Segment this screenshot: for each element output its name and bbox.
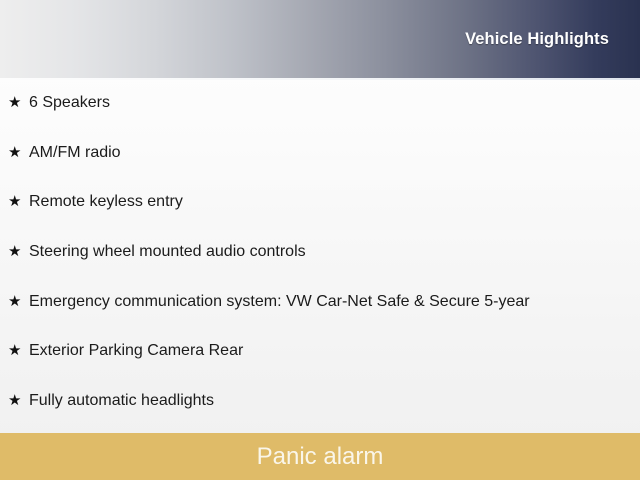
list-item: ★ AM/FM radio bbox=[0, 128, 640, 178]
vehicle-highlights-panel: Vehicle Highlights ★ 6 Speakers ★ AM/FM … bbox=[0, 0, 640, 480]
footer-banner: Panic alarm bbox=[0, 433, 640, 480]
star-icon: ★ bbox=[8, 294, 29, 309]
list-item: ★ Fully automatic headlights bbox=[0, 376, 640, 426]
list-item: ★ Steering wheel mounted audio controls bbox=[0, 227, 640, 277]
list-item-label: Remote keyless entry bbox=[29, 192, 183, 211]
star-icon: ★ bbox=[8, 145, 29, 160]
star-icon: ★ bbox=[8, 194, 29, 209]
list-item-label: Emergency communication system: VW Car-N… bbox=[29, 292, 530, 311]
list-item-label: Steering wheel mounted audio controls bbox=[29, 242, 306, 261]
list-item-label: Exterior Parking Camera Rear bbox=[29, 341, 243, 360]
list-item: ★ Exterior Parking Camera Rear bbox=[0, 326, 640, 376]
star-icon: ★ bbox=[8, 95, 29, 110]
page-title: Vehicle Highlights bbox=[465, 30, 609, 49]
highlights-list: ★ 6 Speakers ★ AM/FM radio ★ Remote keyl… bbox=[0, 78, 640, 433]
list-item: ★ 6 Speakers bbox=[0, 78, 640, 128]
panel-header: Vehicle Highlights bbox=[0, 0, 640, 78]
list-item: ★ Remote keyless entry bbox=[0, 177, 640, 227]
star-icon: ★ bbox=[8, 343, 29, 358]
list-item: ★ Emergency communication system: VW Car… bbox=[0, 276, 640, 326]
list-item-label: 6 Speakers bbox=[29, 93, 110, 112]
star-icon: ★ bbox=[8, 244, 29, 259]
footer-banner-label: Panic alarm bbox=[257, 445, 384, 469]
star-icon: ★ bbox=[8, 393, 29, 408]
list-item-label: Fully automatic headlights bbox=[29, 391, 214, 410]
list-item-label: AM/FM radio bbox=[29, 143, 121, 162]
